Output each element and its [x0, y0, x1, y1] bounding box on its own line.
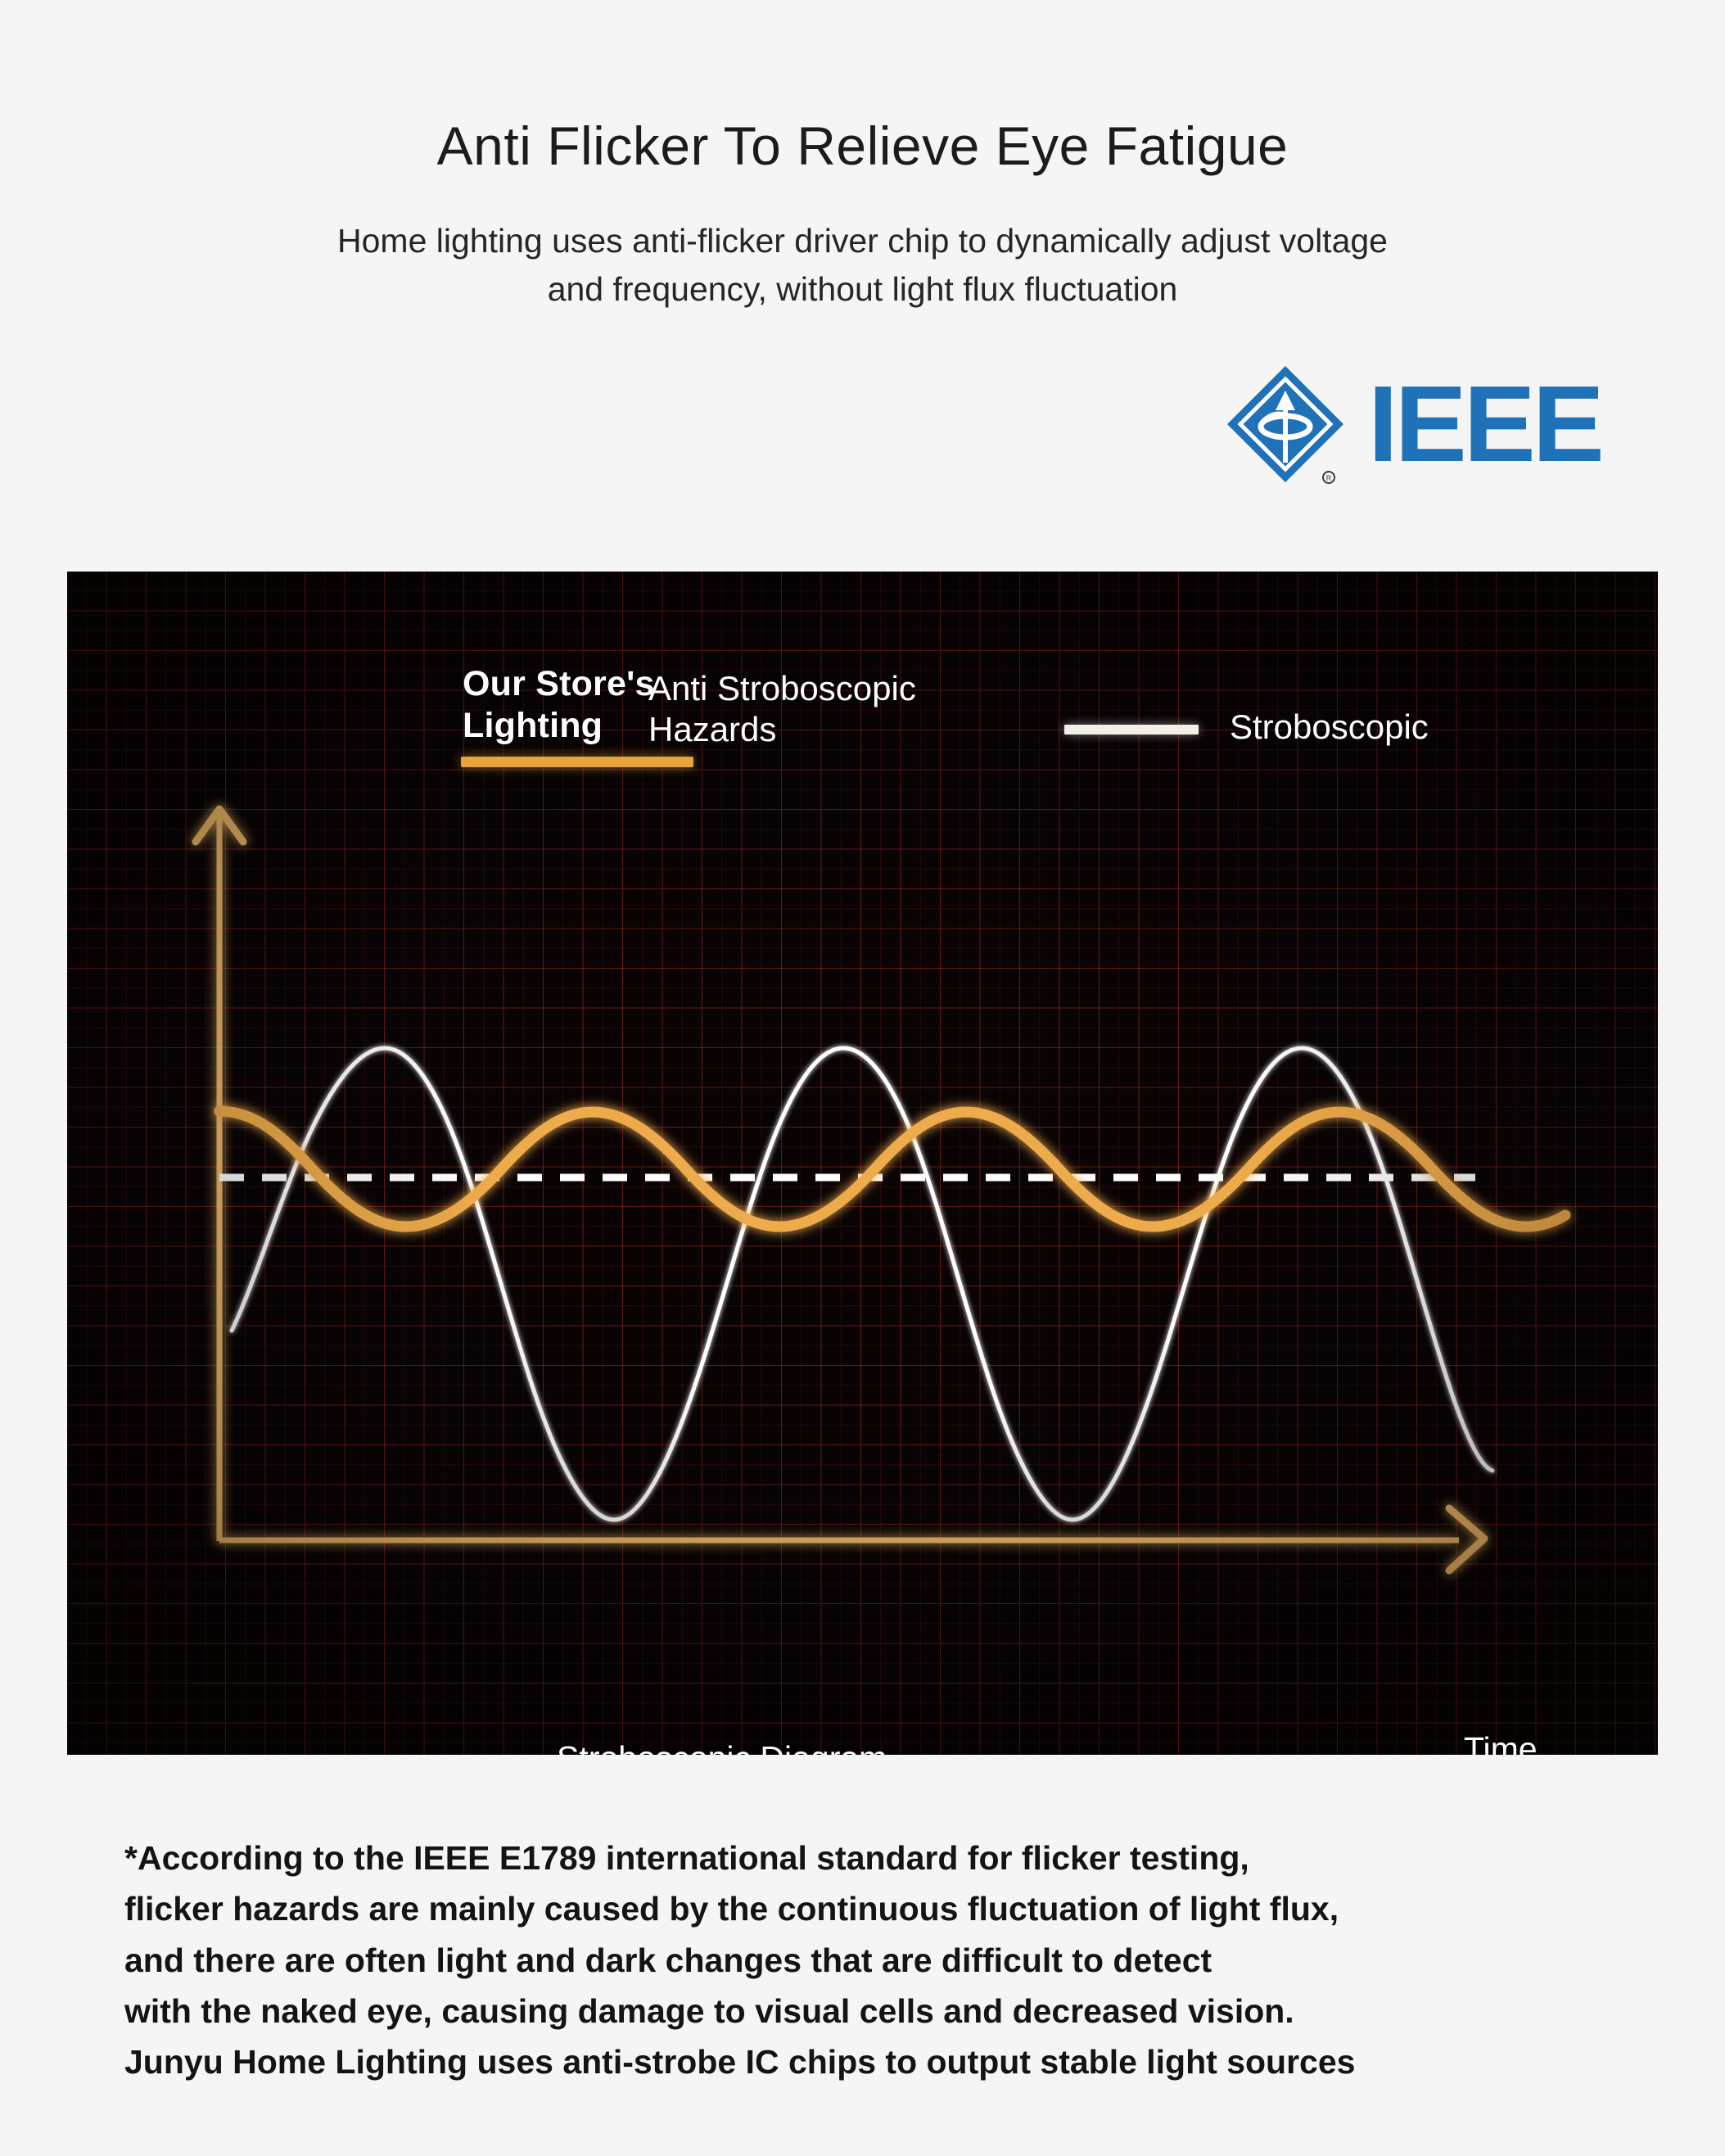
ieee-wordmark: IEEE — [1368, 370, 1601, 478]
page-title: Anti Flicker To Relieve Eye Fatigue — [0, 0, 1725, 176]
ieee-logo: R IEEE — [1224, 363, 1650, 486]
header: Anti Flicker To Relieve Eye Fatigue Home… — [0, 0, 1725, 314]
legend-label-stroboscopic: Stroboscopic — [1230, 707, 1429, 748]
legend-label-our-store-lighting: Our Store's Lighting — [463, 663, 655, 746]
ieee-diamond-icon: R — [1224, 363, 1347, 486]
x-axis — [219, 1508, 1484, 1571]
series-our-store-lighting — [219, 1111, 1565, 1227]
legend-swatch-stroboscopic — [1064, 725, 1199, 734]
x-axis-label: Time — [1464, 1730, 1538, 1755]
legend-swatch-our-store-lighting — [461, 757, 693, 767]
svg-text:R: R — [1326, 474, 1332, 482]
legend-label-anti-stroboscopic-hazards: Anti Stroboscopic Hazards — [648, 668, 916, 749]
page-subtitle: Home lighting uses anti-flicker driver c… — [0, 176, 1725, 314]
chart-caption: Stroboscopic Diagram — [557, 1739, 887, 1755]
footnote-text: *According to the IEEE E1789 internation… — [124, 1833, 1623, 2088]
stroboscopic-chart-panel: Our Store's Lighting Anti Stroboscopic H… — [67, 572, 1658, 1755]
